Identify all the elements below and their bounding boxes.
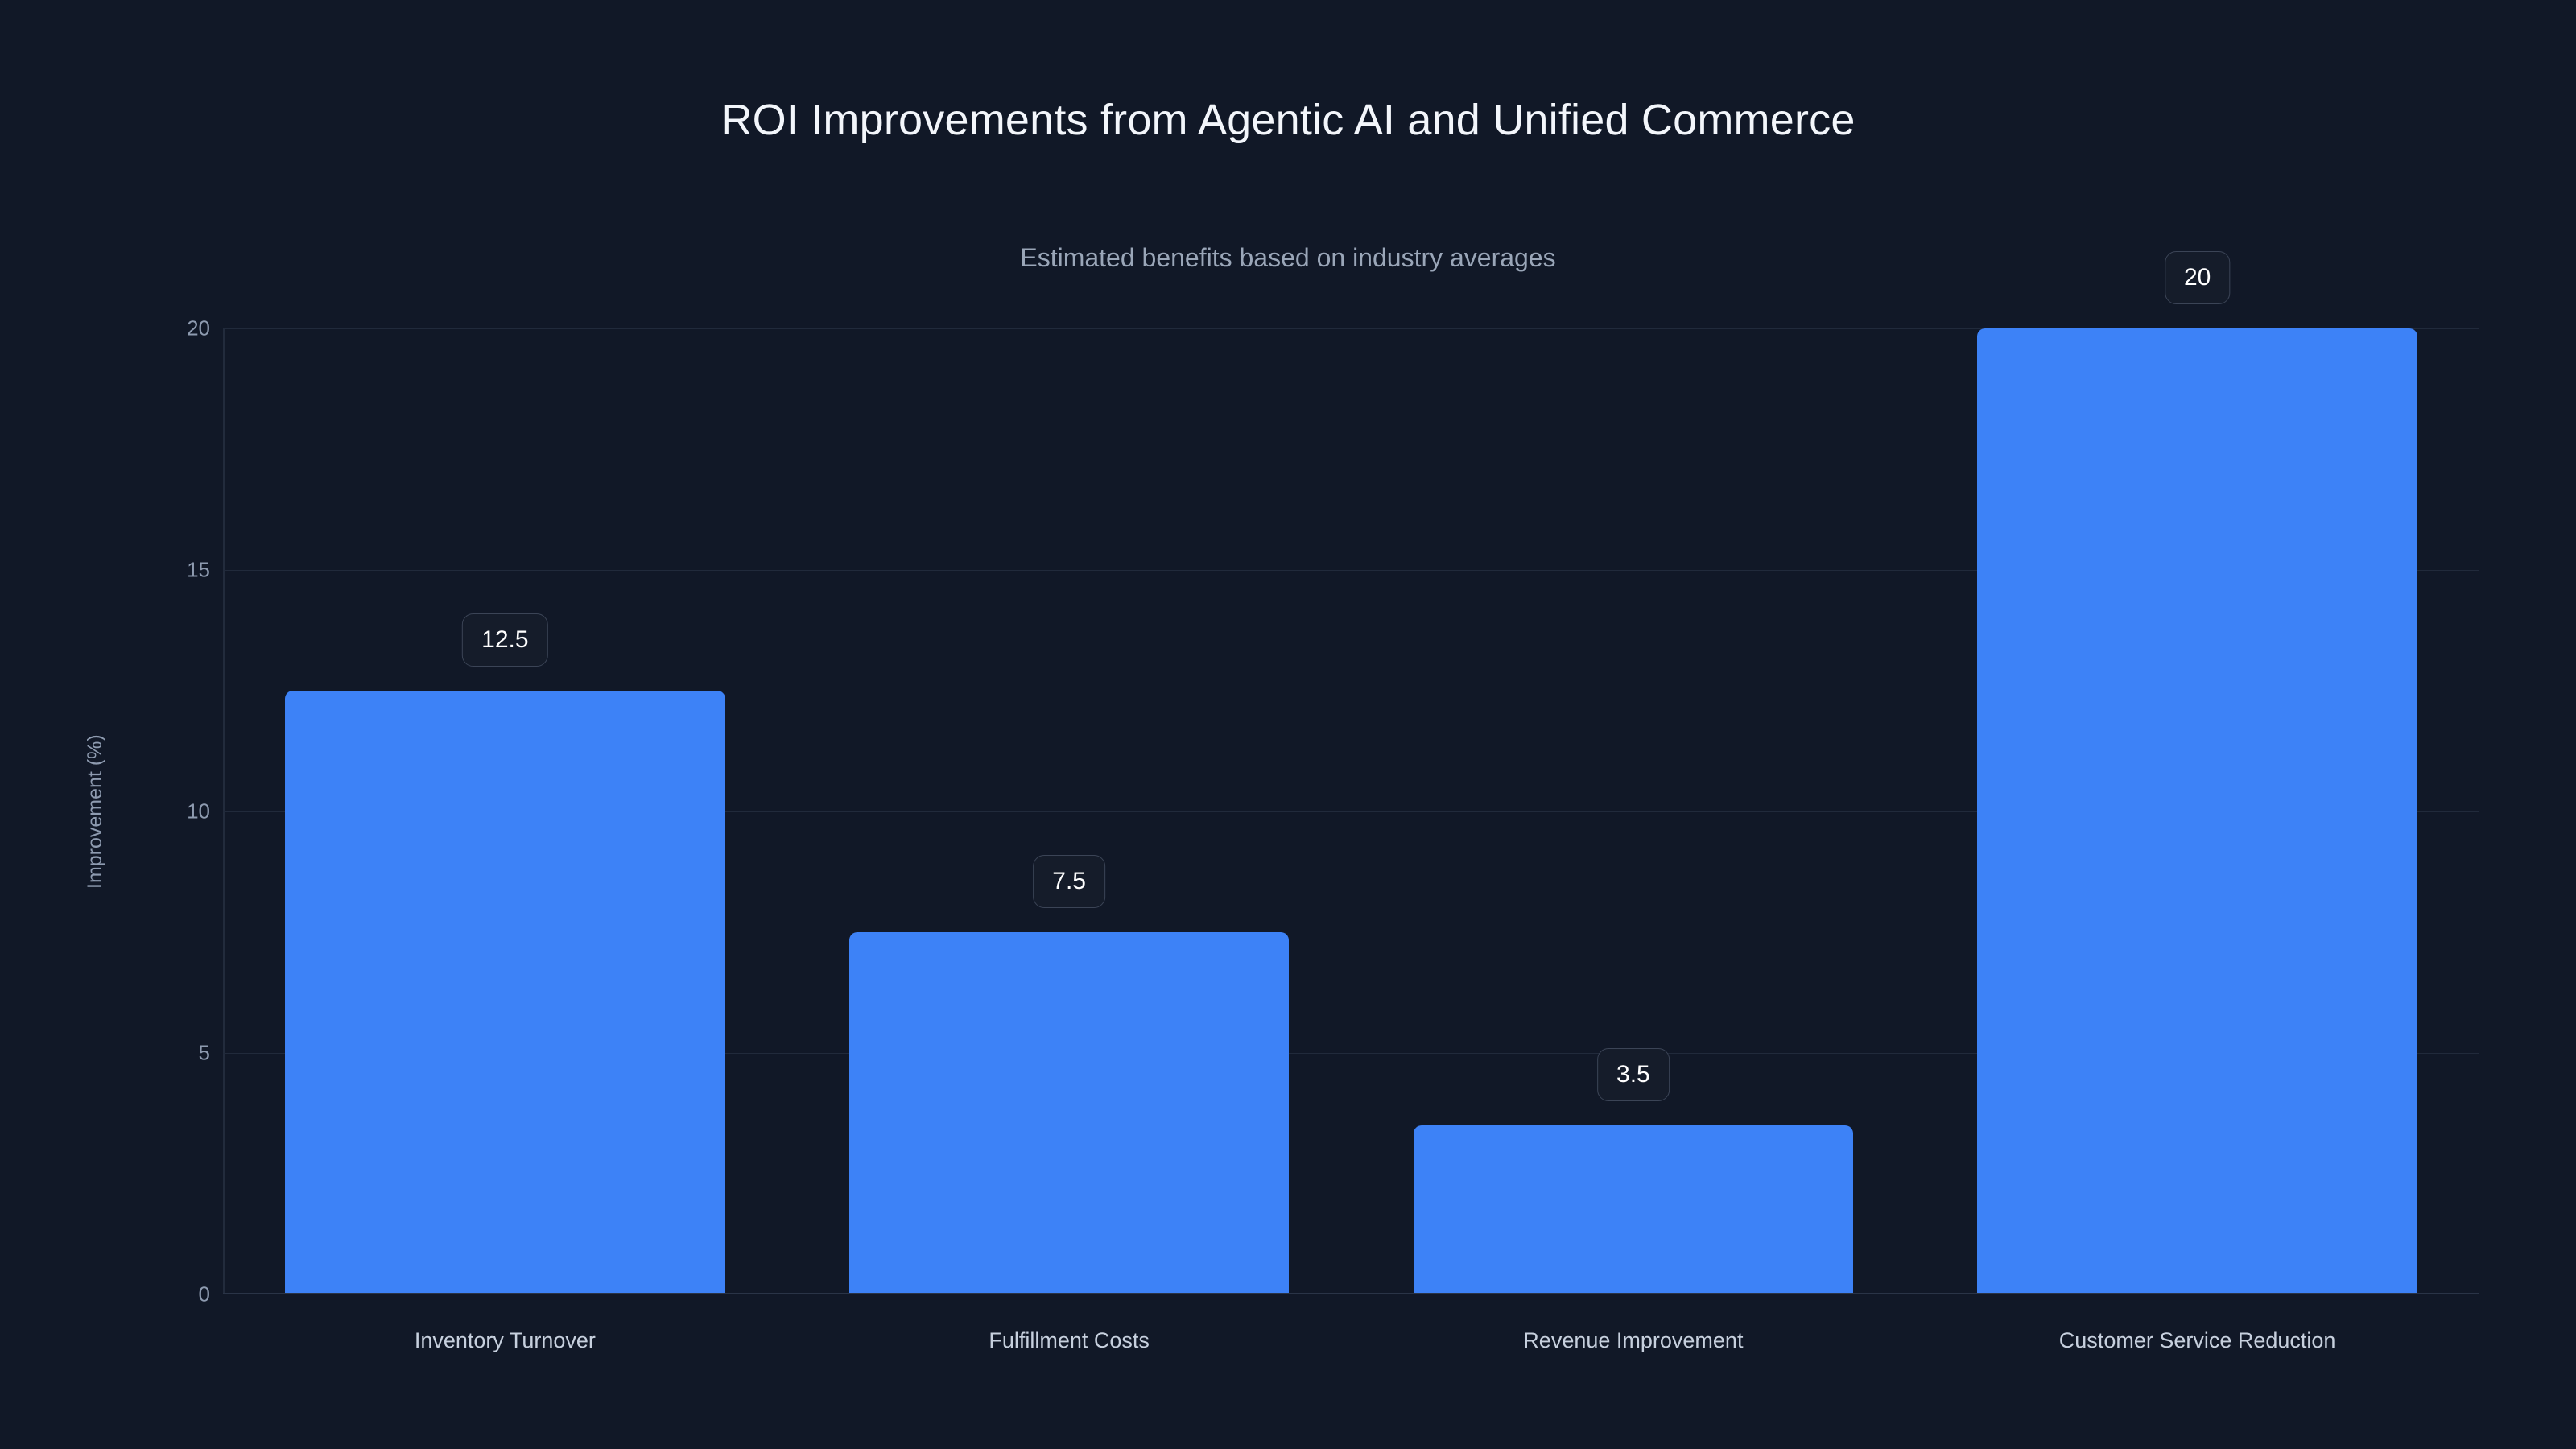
y-axis-title: Improvement (%) bbox=[84, 734, 107, 889]
chart-title: ROI Improvements from Agentic AI and Uni… bbox=[0, 95, 2576, 145]
bar[interactable] bbox=[849, 932, 1290, 1294]
bar[interactable] bbox=[285, 691, 725, 1294]
bar-value-label: 20 bbox=[2165, 251, 2230, 304]
y-axis-tick-label: 15 bbox=[114, 558, 210, 583]
bar-value-label: 3.5 bbox=[1597, 1048, 1670, 1101]
y-axis-tick-label: 10 bbox=[114, 799, 210, 824]
bar[interactable] bbox=[1414, 1125, 1854, 1294]
bar[interactable] bbox=[1977, 328, 2417, 1294]
plot-area bbox=[223, 328, 2479, 1294]
bar-value-label: 7.5 bbox=[1033, 855, 1105, 908]
x-axis-category-label: Fulfillment Costs bbox=[989, 1328, 1150, 1353]
y-axis-tick-label: 0 bbox=[114, 1282, 210, 1307]
x-axis-category-label: Revenue Improvement bbox=[1523, 1328, 1743, 1353]
y-axis-tick-label: 5 bbox=[114, 1041, 210, 1066]
bar-value-label: 12.5 bbox=[462, 613, 547, 667]
x-axis-category-label: Inventory Turnover bbox=[415, 1328, 596, 1353]
x-axis-line bbox=[223, 1293, 2479, 1294]
bar-chart-figure: ROI Improvements from Agentic AI and Uni… bbox=[0, 0, 2576, 1449]
y-axis-tick-label: 20 bbox=[114, 316, 210, 341]
x-axis-category-label: Customer Service Reduction bbox=[2059, 1328, 2336, 1353]
